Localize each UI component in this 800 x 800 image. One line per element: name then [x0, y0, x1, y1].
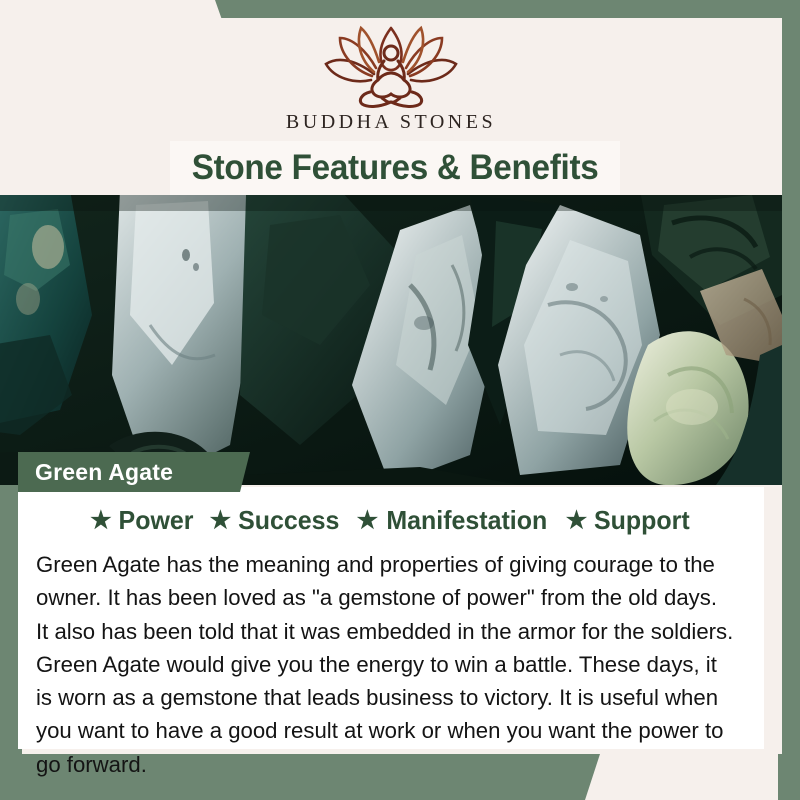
- star-icon: ★: [357, 509, 379, 533]
- stone-description: Green Agate has the meaning and properti…: [36, 548, 735, 781]
- star-icon: ★: [210, 509, 232, 533]
- page-title: Stone Features & Benefits: [192, 148, 599, 188]
- title-banner: Stone Features & Benefits: [170, 141, 620, 195]
- feature-item-success: ★ Success: [210, 505, 342, 536]
- feature-list: ★ Power ★ Success ★ Manifestation ★ Supp…: [18, 487, 764, 536]
- lotus-meditation-icon: [316, 22, 466, 110]
- star-icon: ★: [566, 509, 588, 533]
- feature-label: Success: [238, 505, 339, 536]
- feature-label: Support: [594, 505, 690, 536]
- infographic-page: BUDDHA STONES Stone Features & Benefits: [0, 0, 800, 800]
- star-icon: ★: [90, 509, 112, 533]
- stone-name-tag: Green Agate: [18, 452, 250, 492]
- brand-name: BUDDHA STONES: [286, 111, 496, 134]
- brand-header: BUDDHA STONES: [0, 18, 782, 148]
- feature-label: Manifestation: [387, 505, 548, 536]
- feature-label: Power: [118, 505, 193, 536]
- stone-name: Green Agate: [18, 459, 173, 486]
- green-agate-tumbled-stones-photo: [0, 195, 782, 485]
- feature-item-power: ★ Power: [90, 505, 195, 536]
- content-panel: ★ Power ★ Success ★ Manifestation ★ Supp…: [18, 487, 764, 749]
- feature-item-manifestation: ★ Manifestation: [357, 505, 551, 536]
- feature-item-support: ★ Support: [566, 505, 692, 536]
